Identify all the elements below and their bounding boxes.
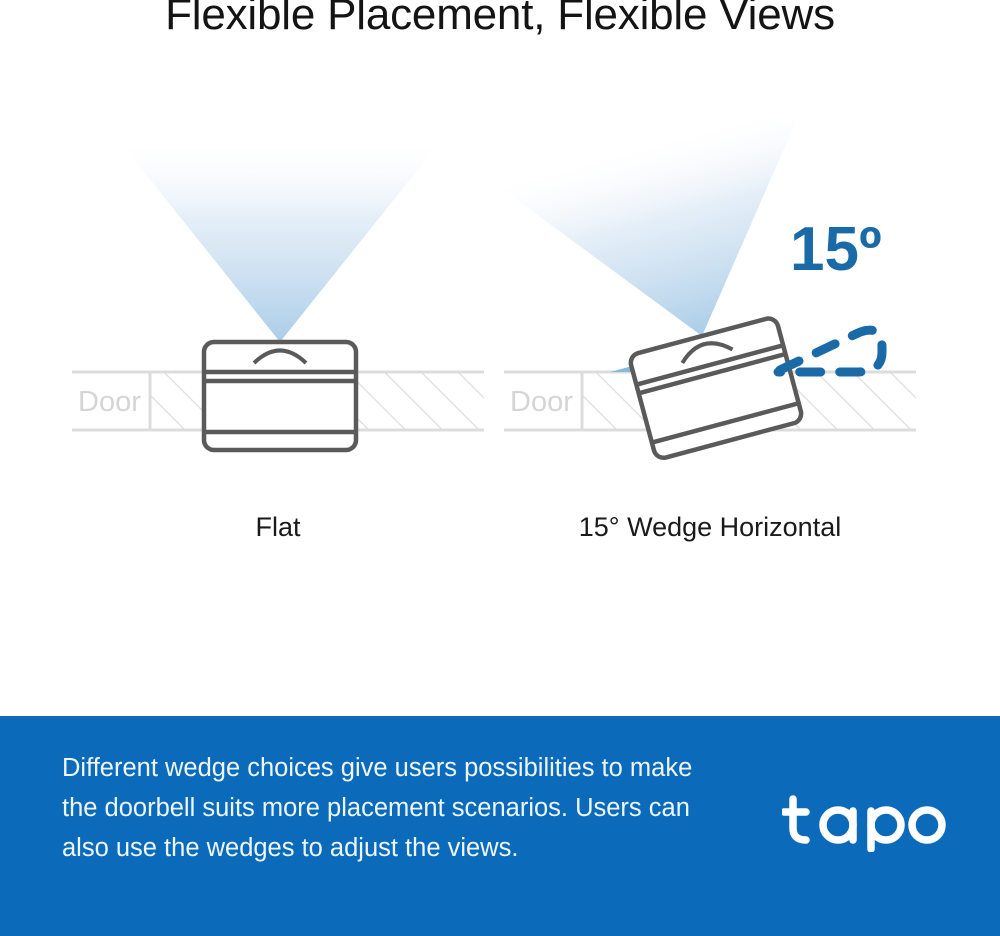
angle-label: 15º	[790, 215, 882, 284]
door-label: Door	[78, 386, 141, 418]
field-of-view-cone	[120, 142, 440, 342]
flat-scene-graphic: Door	[58, 120, 498, 520]
footer-banner: Different wedge choices give users possi…	[0, 716, 1000, 936]
footer-description: Different wedge choices give users possi…	[62, 748, 712, 868]
wedge-scene-graphic: Door 15º	[490, 120, 930, 520]
illustration-wedge: Door 15º	[490, 120, 930, 600]
door-label: Door	[510, 386, 573, 418]
product-infographic: Flexible Placement, Flexible Views	[0, 0, 1000, 936]
doorbell-device	[204, 342, 356, 450]
page-title: Flexible Placement, Flexible Views	[0, 0, 1000, 43]
illustration-flat: Door Flat	[58, 120, 498, 600]
caption-flat: Flat	[58, 512, 498, 543]
tapo-logo	[782, 788, 952, 852]
angle-indicator-dashed	[778, 330, 882, 372]
doorbell-device	[629, 316, 804, 460]
illustration-row: Door Flat	[0, 120, 1000, 600]
caption-wedge: 15° Wedge Horizontal	[490, 512, 930, 543]
